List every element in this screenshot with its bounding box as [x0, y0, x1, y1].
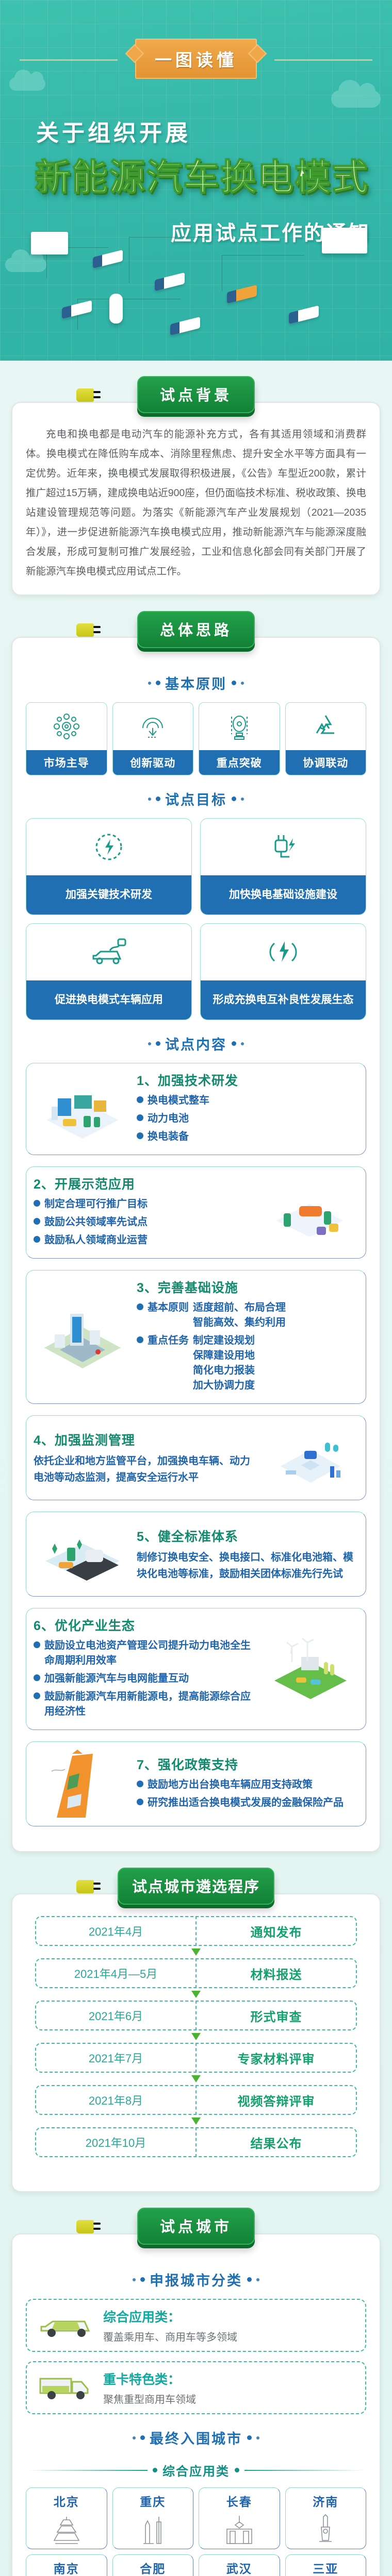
- content-item[interactable]: 6、优化产业生态 鼓励设立电池资产管理公司提升动力电池全生命周期利用效率 加强新…: [26, 1608, 366, 1730]
- plug-icon: [76, 388, 94, 402]
- city-card[interactable]: 三亚: [285, 2554, 367, 2576]
- city-category-desc: 覆盖乘用车、商用车等多领域: [103, 2329, 237, 2344]
- content-item-paragraph: 制修订换电安全、换电接口、标准化电池箱、模块化电池等标准，鼓励相关团体标准先行先…: [137, 1549, 358, 1582]
- city-name: 重庆: [113, 2492, 193, 2510]
- timeline-event: 形式审查: [197, 2007, 356, 2025]
- hero-banner: 一图读懂 关于组织开展 新能源汽车换电模式 应用试点工作的通知: [0, 0, 392, 361]
- goal-card[interactable]: 加强关键技术研发: [26, 818, 192, 915]
- timeline-event: 视频答辩评审: [197, 2091, 356, 2109]
- section-header-cities: 试点城市: [0, 2208, 392, 2245]
- hero-subtitle-top: 关于组织开展: [36, 114, 191, 147]
- city-name: 长春: [199, 2492, 280, 2510]
- content-item[interactable]: 4、加强监测管理 依托企业和地方监管平台，加强换电车辆、动力电池等动态监测，提高…: [26, 1415, 366, 1500]
- content-item-text: 2、开展示范应用 制定合理可行推广目标 鼓励公共领域率先试点 鼓励私人领域商业运…: [34, 1174, 255, 1251]
- bullet: 鼓励新能源汽车用新能源电，提高能源综合应用经济性: [34, 1689, 255, 1719]
- city-card[interactable]: 南京: [26, 2554, 107, 2576]
- timeline-row: 2021年8月 视频答辩评审: [35, 2085, 357, 2115]
- goal-label: 促进换电模式车辆应用: [26, 980, 191, 1020]
- background-paragraph: 充电和换电都是电动汽车的能源补充方式，各有其适用领域和消费群体。换电模式在降低购…: [26, 425, 366, 581]
- timeline-row: 2021年4月—5月 材料报送: [35, 1958, 357, 1988]
- principle-label: 创新驱动: [113, 750, 193, 775]
- section-header-background: 试点背景: [0, 376, 392, 413]
- subheading-label: 申报城市分类: [150, 2269, 242, 2290]
- ribbon-label: 一图读懂: [135, 39, 257, 79]
- overall-card: 基本原则 市场主导: [11, 637, 381, 1852]
- principle-card[interactable]: 市场主导: [26, 702, 107, 775]
- arrow-down-icon: [26, 1988, 366, 2001]
- cities-card: 申报城市分类 综合应用类： 覆盖乘用车、商用车等多领域: [11, 2233, 381, 2576]
- goal-card[interactable]: 加快换电基础设施建设: [200, 818, 366, 915]
- timeline-date: 2021年7月: [36, 2049, 195, 2066]
- landmark-icon: [199, 2510, 280, 2547]
- arrow-down-icon: [26, 1946, 366, 1958]
- plug-icon: [76, 623, 94, 637]
- car-plug-icon: [26, 924, 191, 980]
- subheading-principles: 基本原则: [26, 673, 366, 693]
- bullet: 鼓励地方出台换电车辆应用支持政策: [137, 1777, 358, 1792]
- group-label: 综合应用类: [162, 2461, 230, 2479]
- content-item-title: 1、加强技术研发: [137, 1071, 358, 1089]
- factory-robot-scene-art: [34, 1074, 132, 1144]
- bullet: 换电装备: [137, 1129, 358, 1144]
- principle-label: 重点突破: [199, 750, 280, 775]
- data-platform-scene-art: [260, 1423, 358, 1493]
- bullet: 研究推出适合换电模式发展的金融保险产品: [137, 1795, 358, 1810]
- subheading-label: 最终入围城市: [150, 2428, 242, 2448]
- principle-card[interactable]: 重点突破: [199, 702, 280, 775]
- hero-isometric-illustration: [0, 227, 392, 361]
- city-name: 武汉: [199, 2559, 280, 2576]
- city-name: 北京: [26, 2492, 107, 2510]
- content-item-title: 5、健全标准体系: [137, 1527, 358, 1545]
- section-title-overall: 总体思路: [137, 611, 255, 648]
- section-header-procedure: 试点城市遴选程序: [0, 1868, 392, 1905]
- timeline-row: 2021年7月 专家材料评审: [35, 2043, 357, 2073]
- city-category-name: 重卡特色类：: [103, 2369, 196, 2388]
- cloud-icon: [9, 77, 45, 91]
- city-card[interactable]: 北京: [26, 2487, 107, 2549]
- swap-station-scene-art: [34, 1519, 132, 1589]
- content-item-title: 7、强化政策支持: [137, 1755, 358, 1773]
- landmark-icon: [113, 2510, 193, 2547]
- city-name: 济南: [286, 2492, 366, 2510]
- city-category-desc: 聚焦重型商用车领域: [103, 2391, 196, 2406]
- timeline-event: 结果公布: [197, 2133, 356, 2151]
- bullet-key: 重点任务: [148, 1333, 189, 1348]
- plug-bolt-icon: [201, 819, 366, 875]
- subheading-label: 试点目标: [165, 789, 227, 809]
- background-card: 充电和换电都是电动汽车的能源补充方式，各有其适用领域和消费群体。换电模式在降低购…: [11, 402, 381, 596]
- content-item-text: 5、健全标准体系 制修订换电安全、换电接口、标准化电池箱、模块化电池等标准，鼓励…: [137, 1527, 358, 1582]
- bolt-cycle-icon: [201, 924, 366, 980]
- timeline-event: 材料报送: [197, 1964, 356, 1982]
- plug-icon: [76, 2220, 94, 2233]
- network-icon: [26, 703, 107, 750]
- green-energy-scene-art: [260, 1634, 358, 1704]
- subheading-final-cities: 最终入围城市: [26, 2428, 366, 2448]
- green-truck-icon: [34, 2369, 96, 2406]
- bullet: 动力电池: [137, 1111, 358, 1126]
- content-item-paragraph: 依托企业和地方监管平台，加强换电车辆、动力电池等动态监测，提高安全运行水平: [34, 1453, 255, 1486]
- bullet: 制定合理可行推广目标: [34, 1197, 255, 1212]
- content-item[interactable]: 5、健全标准体系 制修订换电安全、换电接口、标准化电池箱、模块化电池等标准，鼓励…: [26, 1512, 366, 1597]
- city-card[interactable]: 济南: [285, 2487, 367, 2549]
- arrow-down-icon: [26, 2073, 366, 2085]
- recycle-icon: [286, 703, 366, 750]
- hero-ribbon: 一图读懂: [0, 39, 392, 79]
- gear-bolt-icon: [26, 819, 191, 875]
- city-card[interactable]: 武汉: [199, 2554, 280, 2576]
- city-card[interactable]: 重庆: [112, 2487, 194, 2549]
- city-name: 三亚: [286, 2559, 366, 2576]
- content-item[interactable]: 7、强化政策支持 鼓励地方出台换电车辆应用支持政策 研究推出适合换电模式发展的金…: [26, 1741, 366, 1826]
- city-category[interactable]: 重卡特色类： 聚焦重型商用车领域: [26, 2361, 366, 2414]
- bullet: 鼓励私人领域商业运营: [34, 1233, 255, 1248]
- timeline-row: 2021年6月 形式审查: [35, 2001, 357, 2030]
- car-battery-scene-art: [260, 1178, 358, 1247]
- timeline-row: 2021年10月 结果公布: [35, 2127, 357, 2157]
- content-item[interactable]: 2、开展示范应用 制定合理可行推广目标 鼓励公共领域率先试点 鼓励私人领域商业运…: [26, 1166, 366, 1259]
- bullet: 基本原则 适度超前、布局合理 智能高效、集约利用: [137, 1300, 358, 1330]
- timeline-row: 2021年4月 通知发布: [35, 1916, 357, 1946]
- city-category-name: 综合应用类：: [103, 2307, 237, 2326]
- principles-grid: 市场主导 创新驱动: [26, 702, 366, 775]
- content-item-text: 3、完善基础设施 基本原则 适度超前、布局合理 智能高效、集约利用 重点任务 制…: [137, 1278, 358, 1396]
- policy-road-scene-art: [34, 1749, 132, 1819]
- idea-bulb-icon: [113, 703, 193, 750]
- city-card[interactable]: 长春: [199, 2487, 280, 2549]
- subheading-city-categories: 申报城市分类: [26, 2269, 366, 2290]
- principle-label: 协调联动: [286, 750, 366, 775]
- content-item-text: 7、强化政策支持 鼓励地方出台换电车辆应用支持政策 研究推出适合换电模式发展的金…: [137, 1755, 358, 1814]
- content-item[interactable]: 3、完善基础设施 基本原则 适度超前、布局合理 智能高效、集约利用 重点任务 制…: [26, 1270, 366, 1404]
- section-title-background: 试点背景: [137, 376, 255, 413]
- bullet: 鼓励公共领域率先试点: [34, 1215, 255, 1230]
- bullet: 加强新能源汽车与电网能量互动: [34, 1671, 255, 1686]
- hero-main-title: 新能源汽车换电模式: [27, 148, 377, 200]
- principle-card[interactable]: 创新驱动: [112, 702, 194, 775]
- timeline-event: 通知发布: [197, 1922, 356, 1940]
- content-item-title: 4、加强监测管理: [34, 1430, 255, 1449]
- bullet-key: 基本原则: [148, 1300, 189, 1315]
- group-label-comprehensive: 综合应用类: [28, 2461, 364, 2479]
- goal-card[interactable]: 促进换电模式车辆应用: [26, 923, 192, 1020]
- bullet-value: 适度超前、布局合理 智能高效、集约利用: [193, 1300, 286, 1330]
- bullet-value: 制定建设规划 保障建设用地 简化电力报装 加大协调力度: [193, 1333, 255, 1393]
- plug-icon: [76, 1880, 94, 1893]
- content-item-text: 4、加强监测管理 依托企业和地方监管平台，加强换电车辆、动力电池等动态监测，提高…: [34, 1430, 255, 1486]
- content-item-title: 3、完善基础设施: [137, 1278, 358, 1296]
- infographic-page: 一图读懂 关于组织开展 新能源汽车换电模式 应用试点工作的通知 试点背景 充电和…: [0, 0, 392, 2576]
- city-block-scene-art: [34, 1302, 132, 1372]
- subheading-label: 基本原则: [165, 673, 227, 693]
- content-item-title: 2、开展示范应用: [34, 1174, 255, 1193]
- subheading-content: 试点内容: [26, 1033, 366, 1054]
- landmark-icon: [286, 2510, 366, 2547]
- goals-grid: 加强关键技术研发 加快换电基础设施建设: [26, 818, 366, 1020]
- timeline-date: 2021年10月: [36, 2134, 195, 2150]
- city-grid-comprehensive: 北京 重庆 长春 济南 南京 合肥: [26, 2487, 366, 2576]
- city-name: 南京: [26, 2559, 107, 2576]
- section-header-overall: 总体思路: [0, 611, 392, 648]
- green-car-icon: [34, 2307, 96, 2344]
- goal-label: 加快换电基础设施建设: [201, 875, 366, 914]
- subheading-goals: 试点目标: [26, 789, 366, 809]
- goal-label: 形成充换电互补良性发展生态: [201, 980, 366, 1020]
- timeline-date: 2021年4月—5月: [36, 1965, 195, 1981]
- cloud-icon: [331, 90, 381, 108]
- timeline-event: 专家材料评审: [197, 2049, 356, 2067]
- goal-card[interactable]: 形成充换电互补良性发展生态: [200, 923, 366, 1020]
- target-bulb-icon: [199, 703, 280, 750]
- procedure-card: 2021年4月 通知发布 2021年4月—5月 材料报送 2021年6月 形式审…: [11, 1893, 381, 2192]
- bullet: 重点任务 制定建设规划 保障建设用地 简化电力报装 加大协调力度: [137, 1333, 358, 1393]
- city-name: 合肥: [113, 2559, 193, 2576]
- goal-label: 加强关键技术研发: [26, 875, 191, 914]
- landmark-icon: [26, 2510, 107, 2547]
- bullet: 鼓励设立电池资产管理公司提升动力电池全生命周期利用效率: [34, 1638, 255, 1668]
- city-card[interactable]: 合肥: [112, 2554, 194, 2576]
- timeline-date: 2021年4月: [36, 1923, 195, 1939]
- timeline-date: 2021年6月: [36, 2007, 195, 2024]
- arrow-down-icon: [26, 2115, 366, 2127]
- content-item-text: 6、优化产业生态 鼓励设立电池资产管理公司提升动力电池全生命周期利用效率 加强新…: [34, 1616, 255, 1722]
- arrow-down-icon: [26, 2030, 366, 2043]
- section-title-procedure: 试点城市遴选程序: [118, 1868, 274, 1905]
- city-category[interactable]: 综合应用类： 覆盖乘用车、商用车等多领域: [26, 2299, 366, 2352]
- section-title-cities: 试点城市: [137, 2208, 255, 2245]
- subheading-label: 试点内容: [165, 1033, 227, 1054]
- content-item-text: 1、加强技术研发 换电模式整车 动力电池 换电装备: [137, 1071, 358, 1147]
- principle-card[interactable]: 协调联动: [285, 702, 367, 775]
- principle-label: 市场主导: [26, 750, 107, 775]
- content-item-title: 6、优化产业生态: [34, 1616, 255, 1634]
- timeline-date: 2021年8月: [36, 2092, 195, 2108]
- bullet: 换电模式整车: [137, 1093, 358, 1108]
- content-item[interactable]: 1、加强技术研发 换电模式整车 动力电池 换电装备: [26, 1063, 366, 1155]
